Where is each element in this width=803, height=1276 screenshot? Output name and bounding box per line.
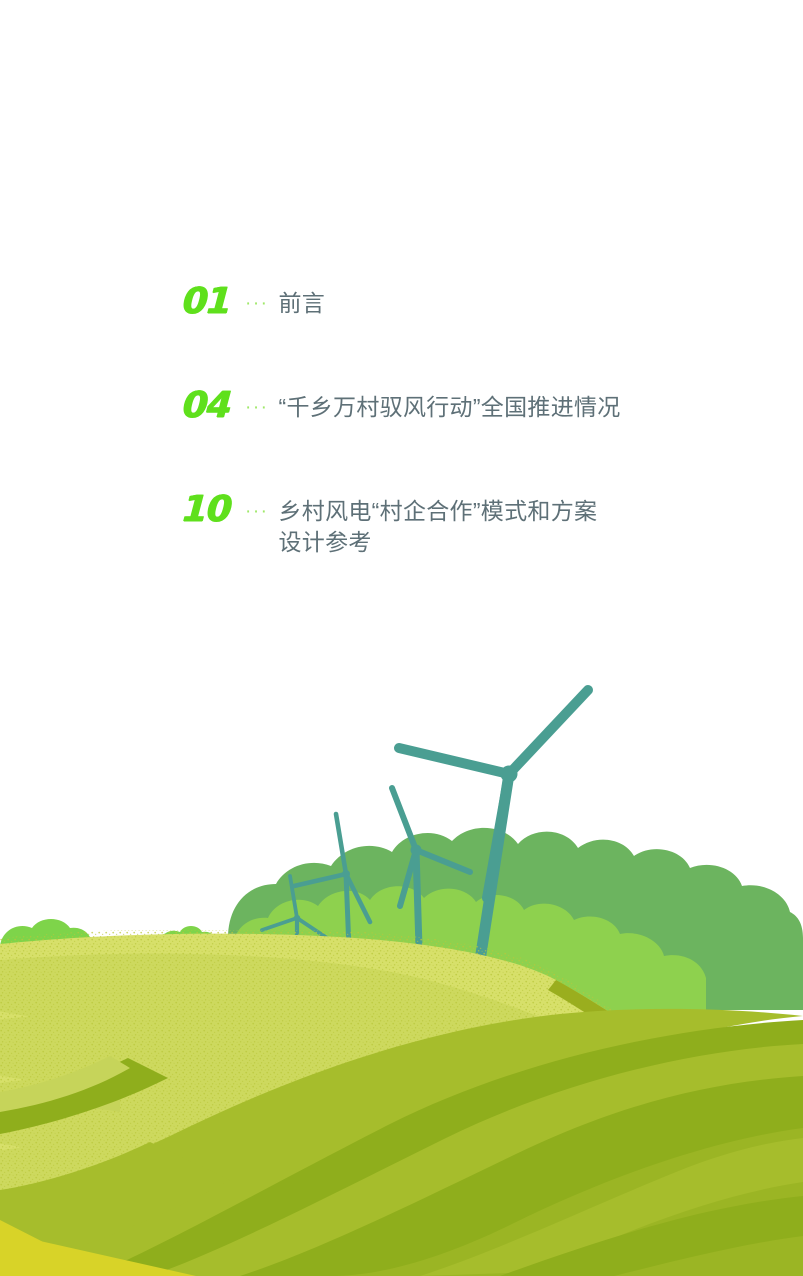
toc-dots-icon: ···: [245, 387, 268, 423]
toc-entry-04[interactable]: 04 ··· “千乡万村驭风行动”全国推进情况: [183, 387, 743, 425]
toc-entry-01[interactable]: 01 ··· 前言: [183, 283, 743, 321]
toc-entry-10[interactable]: 10 ··· 乡村风电“村企合作”模式和方案 设计参考: [183, 491, 743, 558]
toc-label: 前言: [278, 283, 743, 319]
toc-number: 10: [182, 491, 247, 529]
page-root: 01 ··· 前言 04 ··· “千乡万村驭风行动”全国推进情况 10 ···…: [0, 0, 803, 1276]
toc-number: 04: [182, 387, 247, 425]
toc-number: 01: [182, 283, 247, 321]
toc-dots-icon: ···: [245, 283, 268, 319]
toc-label: 乡村风电“村企合作”模式和方案 设计参考: [278, 491, 743, 558]
landscape-illustration: [0, 0, 803, 1276]
toc-dots-icon: ···: [245, 491, 268, 527]
table-of-contents: 01 ··· 前言 04 ··· “千乡万村驭风行动”全国推进情况 10 ···…: [183, 283, 743, 558]
toc-label: “千乡万村驭风行动”全国推进情况: [278, 387, 743, 423]
